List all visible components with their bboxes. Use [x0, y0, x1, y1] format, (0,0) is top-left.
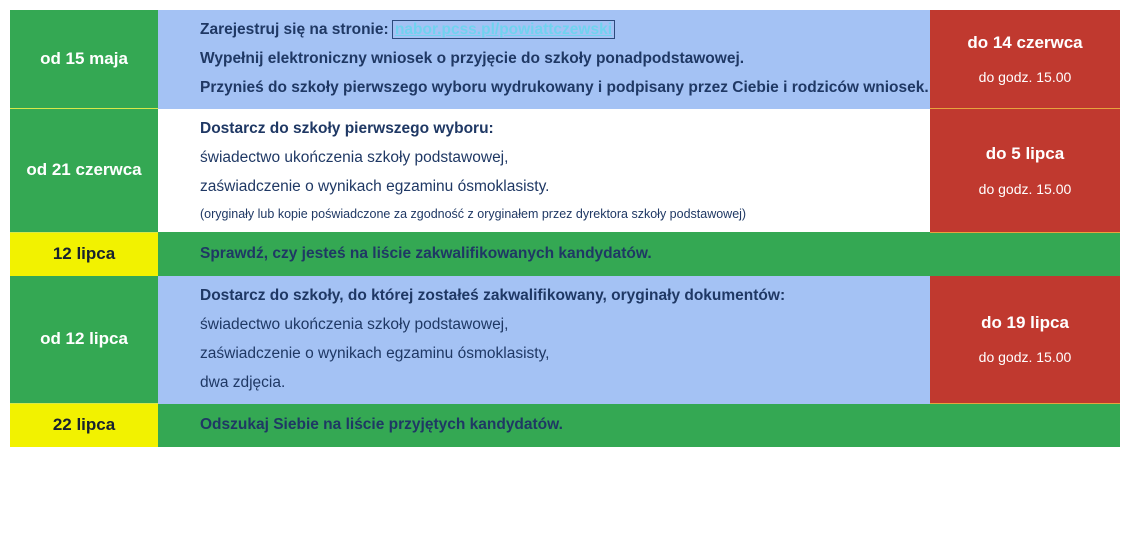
task-line: Zarejestruj się na stronie: nabor.pcss.p…: [200, 20, 930, 41]
task-line: dwa zdjęcia.: [200, 373, 930, 394]
schedule-row: 12 lipcaSprawdź, czy jesteś na liście za…: [10, 232, 1120, 275]
task-line: Dostarcz do szkoły pierwszego wyboru:: [200, 119, 930, 140]
task-line-text: Dostarcz do szkoły, do której zostałeś z…: [200, 287, 785, 304]
recruitment-schedule-table: od 15 majaZarejestruj się na stronie: na…: [10, 10, 1120, 447]
schedule-row: od 21 czerwcaDostarcz do szkoły pierwsze…: [10, 109, 1120, 233]
deadline-date: do 5 lipca: [934, 143, 1116, 165]
date-cell-row-od-12-lipca: od 12 lipca: [10, 276, 158, 404]
task-line-text: Odszukaj Siebie na liście przyjętych kan…: [200, 416, 563, 433]
deadline-time: do godz. 15.00: [934, 348, 1116, 366]
task-line-text: dwa zdjęcia.: [200, 374, 285, 391]
task-line: Przynieś do szkoły pierwszego wyboru wyd…: [200, 78, 930, 99]
deadline-time: do godz. 15.00: [934, 68, 1116, 86]
task-line: Wypełnij elektroniczny wniosek o przyjęc…: [200, 49, 930, 70]
task-line-text: Przynieś do szkoły pierwszego wyboru wyd…: [200, 79, 929, 96]
registration-link[interactable]: nabor.pcss.pl/powiattczewski: [393, 21, 614, 38]
task-line: zaświadczenie o wynikach egzaminu ósmokl…: [200, 177, 930, 198]
schedule-row: od 15 majaZarejestruj się na stronie: na…: [10, 10, 1120, 109]
task-line: Odszukaj Siebie na liście przyjętych kan…: [200, 415, 1120, 436]
schedule-rows: od 15 majaZarejestruj się na stronie: na…: [10, 10, 1120, 447]
date-cell-row-od-21-czerwca: od 21 czerwca: [10, 109, 158, 233]
task-line: Sprawdź, czy jesteś na liście zakwalifik…: [200, 244, 1120, 265]
task-line: (oryginały lub kopie poświadczone za zgo…: [200, 206, 930, 223]
task-cell-row-od-21-czerwca: Dostarcz do szkoły pierwszego wyboru:świ…: [158, 109, 930, 233]
deadline-date: do 19 lipca: [934, 312, 1116, 334]
deadline-cell-row-od-12-lipca: do 19 lipcado godz. 15.00: [930, 276, 1120, 404]
date-cell-row-12-lipca: 12 lipca: [10, 232, 158, 275]
deadline-date: do 14 czerwca: [934, 32, 1116, 54]
task-line-text: zaświadczenie o wynikach egzaminu ósmokl…: [200, 345, 549, 362]
task-line-text: świadectwo ukończenia szkoły podstawowej…: [200, 316, 508, 333]
task-line-text: świadectwo ukończenia szkoły podstawowej…: [200, 149, 508, 166]
deadline-time: do godz. 15.00: [934, 180, 1116, 198]
banner-cell-row-12-lipca: Sprawdź, czy jesteś na liście zakwalifik…: [158, 232, 1120, 275]
task-line: zaświadczenie o wynikach egzaminu ósmokl…: [200, 344, 930, 365]
task-line-text: Sprawdź, czy jesteś na liście zakwalifik…: [200, 245, 652, 262]
task-cell-row-od-12-lipca: Dostarcz do szkoły, do której zostałeś z…: [158, 276, 930, 404]
schedule-row: 22 lipcaOdszukaj Siebie na liście przyję…: [10, 404, 1120, 447]
task-line-text: Zarejestruj się na stronie:: [200, 21, 393, 38]
task-line-text: zaświadczenie o wynikach egzaminu ósmokl…: [200, 178, 549, 195]
task-line: świadectwo ukończenia szkoły podstawowej…: [200, 315, 930, 336]
date-cell-row-22-lipca: 22 lipca: [10, 404, 158, 447]
deadline-cell-row-od-21-czerwca: do 5 lipcado godz. 15.00: [930, 109, 1120, 233]
date-cell-row-od-15-maja: od 15 maja: [10, 10, 158, 109]
schedule-row: od 12 lipcaDostarcz do szkoły, do której…: [10, 276, 1120, 404]
task-line: Dostarcz do szkoły, do której zostałeś z…: [200, 286, 930, 307]
task-line-text: Dostarcz do szkoły pierwszego wyboru:: [200, 120, 494, 137]
banner-cell-row-22-lipca: Odszukaj Siebie na liście przyjętych kan…: [158, 404, 1120, 447]
task-line-text: Wypełnij elektroniczny wniosek o przyjęc…: [200, 50, 744, 67]
deadline-cell-row-od-15-maja: do 14 czerwcado godz. 15.00: [930, 10, 1120, 109]
task-line-text: (oryginały lub kopie poświadczone za zgo…: [200, 207, 746, 221]
task-cell-row-od-15-maja: Zarejestruj się na stronie: nabor.pcss.p…: [158, 10, 930, 109]
task-line: świadectwo ukończenia szkoły podstawowej…: [200, 148, 930, 169]
